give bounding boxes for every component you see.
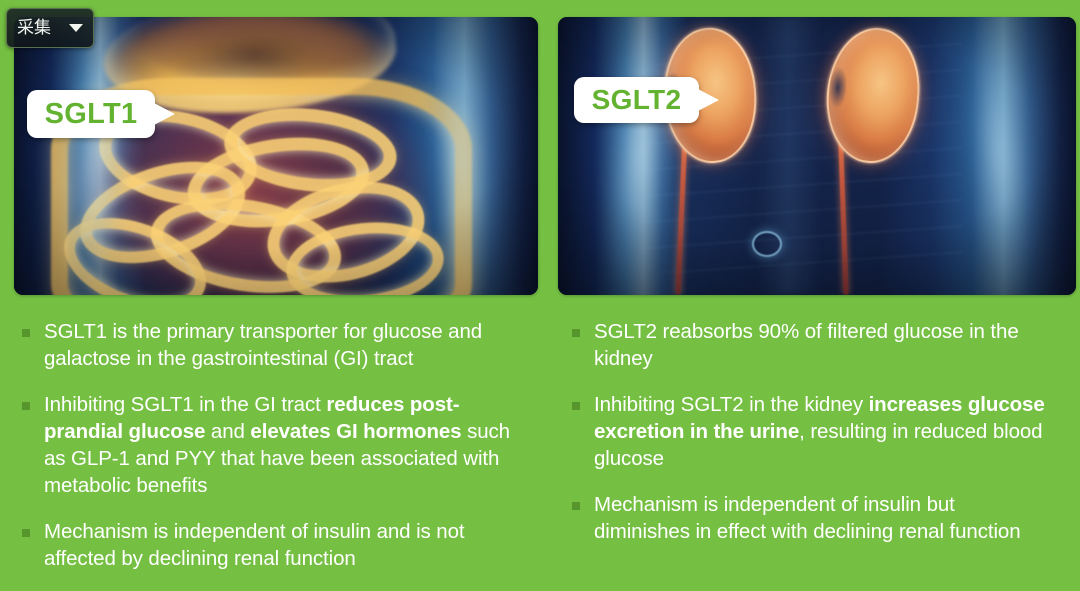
bullet-text: Inhibiting SGLT2 in the kidney increases… xyxy=(594,391,1052,472)
callout-sglt1: SGLT1 xyxy=(27,90,155,138)
capture-dropdown-label: 采集 xyxy=(17,20,51,37)
bullet-text: SGLT2 reabsorbs 90% of filtered glucose … xyxy=(594,318,1052,372)
callout-sglt1-label: SGLT1 xyxy=(45,98,138,131)
bullet-item: Inhibiting SGLT1 in the GI tract reduces… xyxy=(22,391,522,499)
bullet-marker-icon xyxy=(22,402,30,410)
bullet-marker-icon xyxy=(572,502,580,510)
bullet-item: SGLT2 reabsorbs 90% of filtered glucose … xyxy=(572,318,1052,372)
image-panel-sglt1[interactable] xyxy=(14,17,538,295)
bullet-item: SGLT1 is the primary transporter for glu… xyxy=(22,318,522,372)
kidney-illustration xyxy=(558,17,1076,295)
slide-canvas: SGLT1 SGLT2 SGLT1 is the primary transpo… xyxy=(0,0,1080,586)
bullet-text: Mechanism is independent of insulin but … xyxy=(594,491,1052,545)
capture-dropdown-button[interactable]: 采集 xyxy=(6,8,94,48)
bullet-column-right: SGLT2 reabsorbs 90% of filtered glucose … xyxy=(572,318,1052,564)
bullet-item: Mechanism is independent of insulin and … xyxy=(22,518,522,572)
callout-sglt2: SGLT2 xyxy=(574,77,699,123)
bullet-marker-icon xyxy=(22,329,30,337)
chevron-down-icon[interactable] xyxy=(69,24,83,32)
bullet-column-left: SGLT1 is the primary transporter for glu… xyxy=(22,318,522,591)
bullet-marker-icon xyxy=(572,329,580,337)
bullet-marker-icon xyxy=(572,402,580,410)
callout-sglt2-label: SGLT2 xyxy=(592,84,682,116)
abdomen-illustration xyxy=(14,17,538,295)
bullet-marker-icon xyxy=(22,529,30,537)
bullet-text: Inhibiting SGLT1 in the GI tract reduces… xyxy=(44,391,522,499)
bullet-item: Mechanism is independent of insulin but … xyxy=(572,491,1052,545)
bullet-text: Mechanism is independent of insulin and … xyxy=(44,518,522,572)
image-panel-sglt2[interactable] xyxy=(558,17,1076,295)
bullet-text: SGLT1 is the primary transporter for glu… xyxy=(44,318,522,372)
bullet-item: Inhibiting SGLT2 in the kidney increases… xyxy=(572,391,1052,472)
